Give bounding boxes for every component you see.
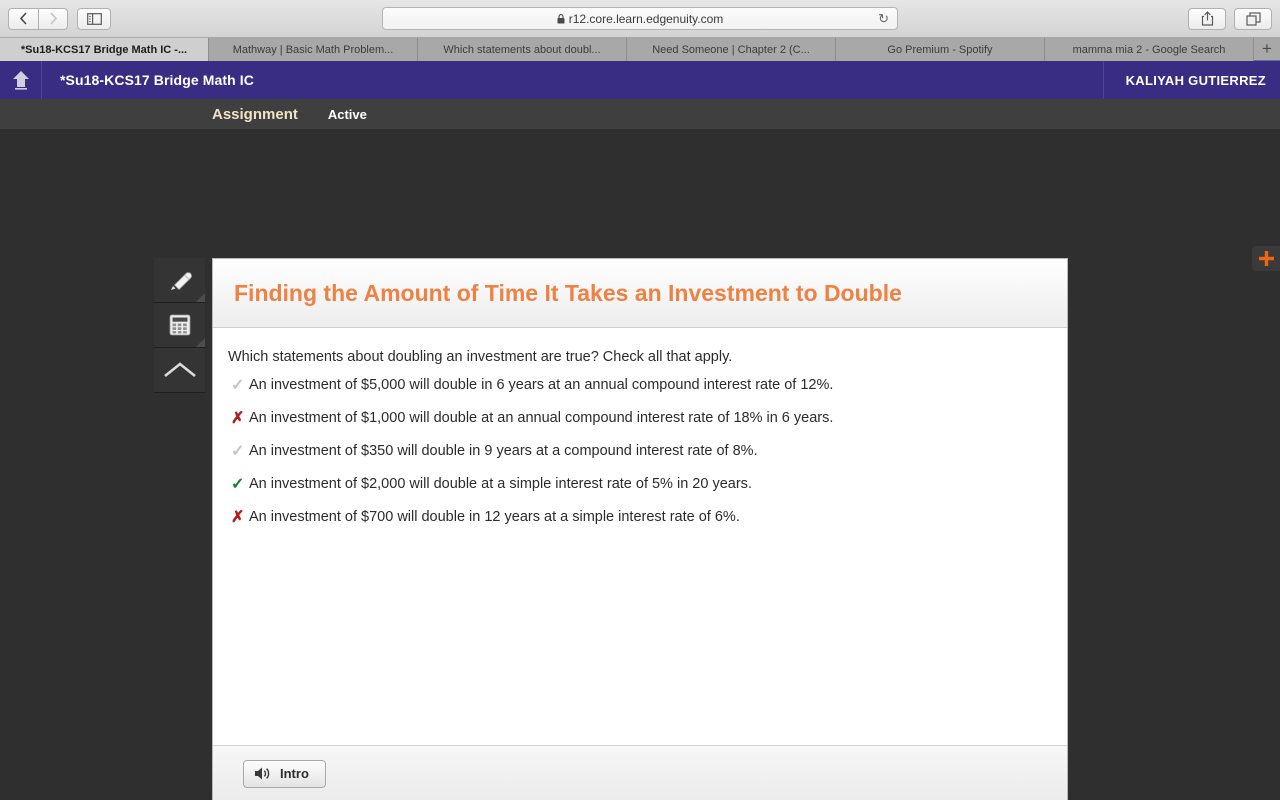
chevron-right-icon [49, 12, 58, 25]
browser-nav-group [8, 8, 111, 30]
cross-icon: ✗ [228, 508, 249, 527]
calculator-icon [167, 312, 193, 338]
check-icon: ✓ [228, 475, 249, 494]
page-title: Finding the Amount of Time It Takes an I… [234, 280, 902, 307]
answer-option[interactable]: ✓ An investment of $5,000 will double in… [228, 376, 1067, 395]
tabs-overview-icon [1246, 12, 1261, 26]
tab-bar: *Su18-KCS17 Bridge Math IC -... Mathway … [0, 38, 1280, 61]
lesson-card: Finding the Amount of Time It Takes an I… [212, 258, 1068, 800]
sidebar-toggle-icon [87, 13, 102, 25]
share-button[interactable] [1188, 8, 1226, 30]
lesson-content: Which statements about doubling an inves… [213, 328, 1067, 745]
chevron-left-icon [19, 12, 28, 25]
back-button[interactable] [8, 8, 38, 30]
browser-tab[interactable]: Need Someone | Chapter 2 (C... [627, 38, 836, 61]
tabs-overview-button[interactable] [1234, 8, 1272, 30]
lesson-footer: Intro [213, 745, 1067, 800]
app-header: *Su18-KCS17 Bridge Math IC KALIYAH GUTIE… [0, 61, 1280, 99]
answer-option-label: An investment of $700 will double in 12 … [249, 508, 740, 527]
home-icon [10, 69, 32, 91]
browser-right-group [1188, 8, 1272, 30]
lock-icon [557, 14, 565, 24]
add-button[interactable] [1252, 246, 1280, 271]
check-icon: ✓ [228, 376, 249, 395]
user-name: KALIYAH GUTIERREZ [1126, 73, 1266, 88]
lesson-title-bar: Finding the Amount of Time It Takes an I… [213, 259, 1067, 328]
calculator-tool-button[interactable] [154, 303, 205, 348]
intro-audio-button[interactable]: Intro [243, 760, 326, 788]
home-button[interactable] [0, 61, 42, 99]
speaker-icon [254, 766, 272, 781]
sidebar-toggle-button[interactable] [77, 8, 111, 30]
answer-option[interactable]: ✓ An investment of $350 will double in 9… [228, 442, 1067, 461]
assignment-label: Assignment [212, 106, 298, 123]
check-icon: ✓ [228, 442, 249, 461]
answer-option-label: An investment of $350 will double in 9 y… [249, 442, 758, 461]
answer-option-label: An investment of $5,000 will double in 6… [249, 376, 833, 395]
answer-option[interactable]: ✓ An investment of $2,000 will double at… [228, 475, 1067, 494]
course-title: *Su18-KCS17 Bridge Math IC [60, 72, 254, 88]
sub-header: Assignment Active [0, 99, 1280, 129]
tool-rail [154, 258, 205, 393]
intro-audio-label: Intro [280, 766, 309, 781]
address-bar-url: r12.core.learn.edgenuity.com [569, 12, 724, 26]
answer-option[interactable]: ✗ An investment of $700 will double in 1… [228, 508, 1067, 527]
browser-tab[interactable]: Which statements about doubl... [418, 38, 627, 61]
plus-icon [1258, 250, 1275, 267]
browser-toolbar: r12.core.learn.edgenuity.com ↻ [0, 0, 1280, 38]
user-menu[interactable]: KALIYAH GUTIERREZ [1103, 61, 1280, 99]
browser-tab[interactable]: Go Premium - Spotify [836, 38, 1045, 61]
lesson-stage: Finding the Amount of Time It Takes an I… [0, 129, 1280, 800]
share-icon [1201, 11, 1214, 26]
browser-tab[interactable]: Mathway | Basic Math Problem... [209, 38, 418, 61]
answer-option-label: An investment of $2,000 will double at a… [249, 475, 752, 494]
pencil-icon [165, 267, 195, 293]
collapse-tool-button[interactable] [154, 348, 205, 393]
highlighter-tool-button[interactable] [154, 258, 205, 303]
reload-icon[interactable]: ↻ [878, 11, 889, 27]
address-bar[interactable]: r12.core.learn.edgenuity.com ↻ [382, 7, 898, 30]
answer-option[interactable]: ✗ An investment of $1,000 will double at… [228, 409, 1067, 428]
forward-button[interactable] [38, 8, 68, 30]
status-badge: Active [328, 107, 367, 122]
new-tab-button[interactable]: + [1254, 38, 1280, 60]
answer-option-label: An investment of $1,000 will double at a… [249, 409, 833, 428]
cross-icon: ✗ [228, 409, 249, 428]
browser-tab[interactable]: mamma mia 2 - Google Search [1045, 38, 1254, 61]
chevron-up-icon [163, 360, 197, 380]
browser-tab[interactable]: *Su18-KCS17 Bridge Math IC -... [0, 38, 209, 61]
question-text: Which statements about doubling an inves… [228, 349, 1067, 365]
